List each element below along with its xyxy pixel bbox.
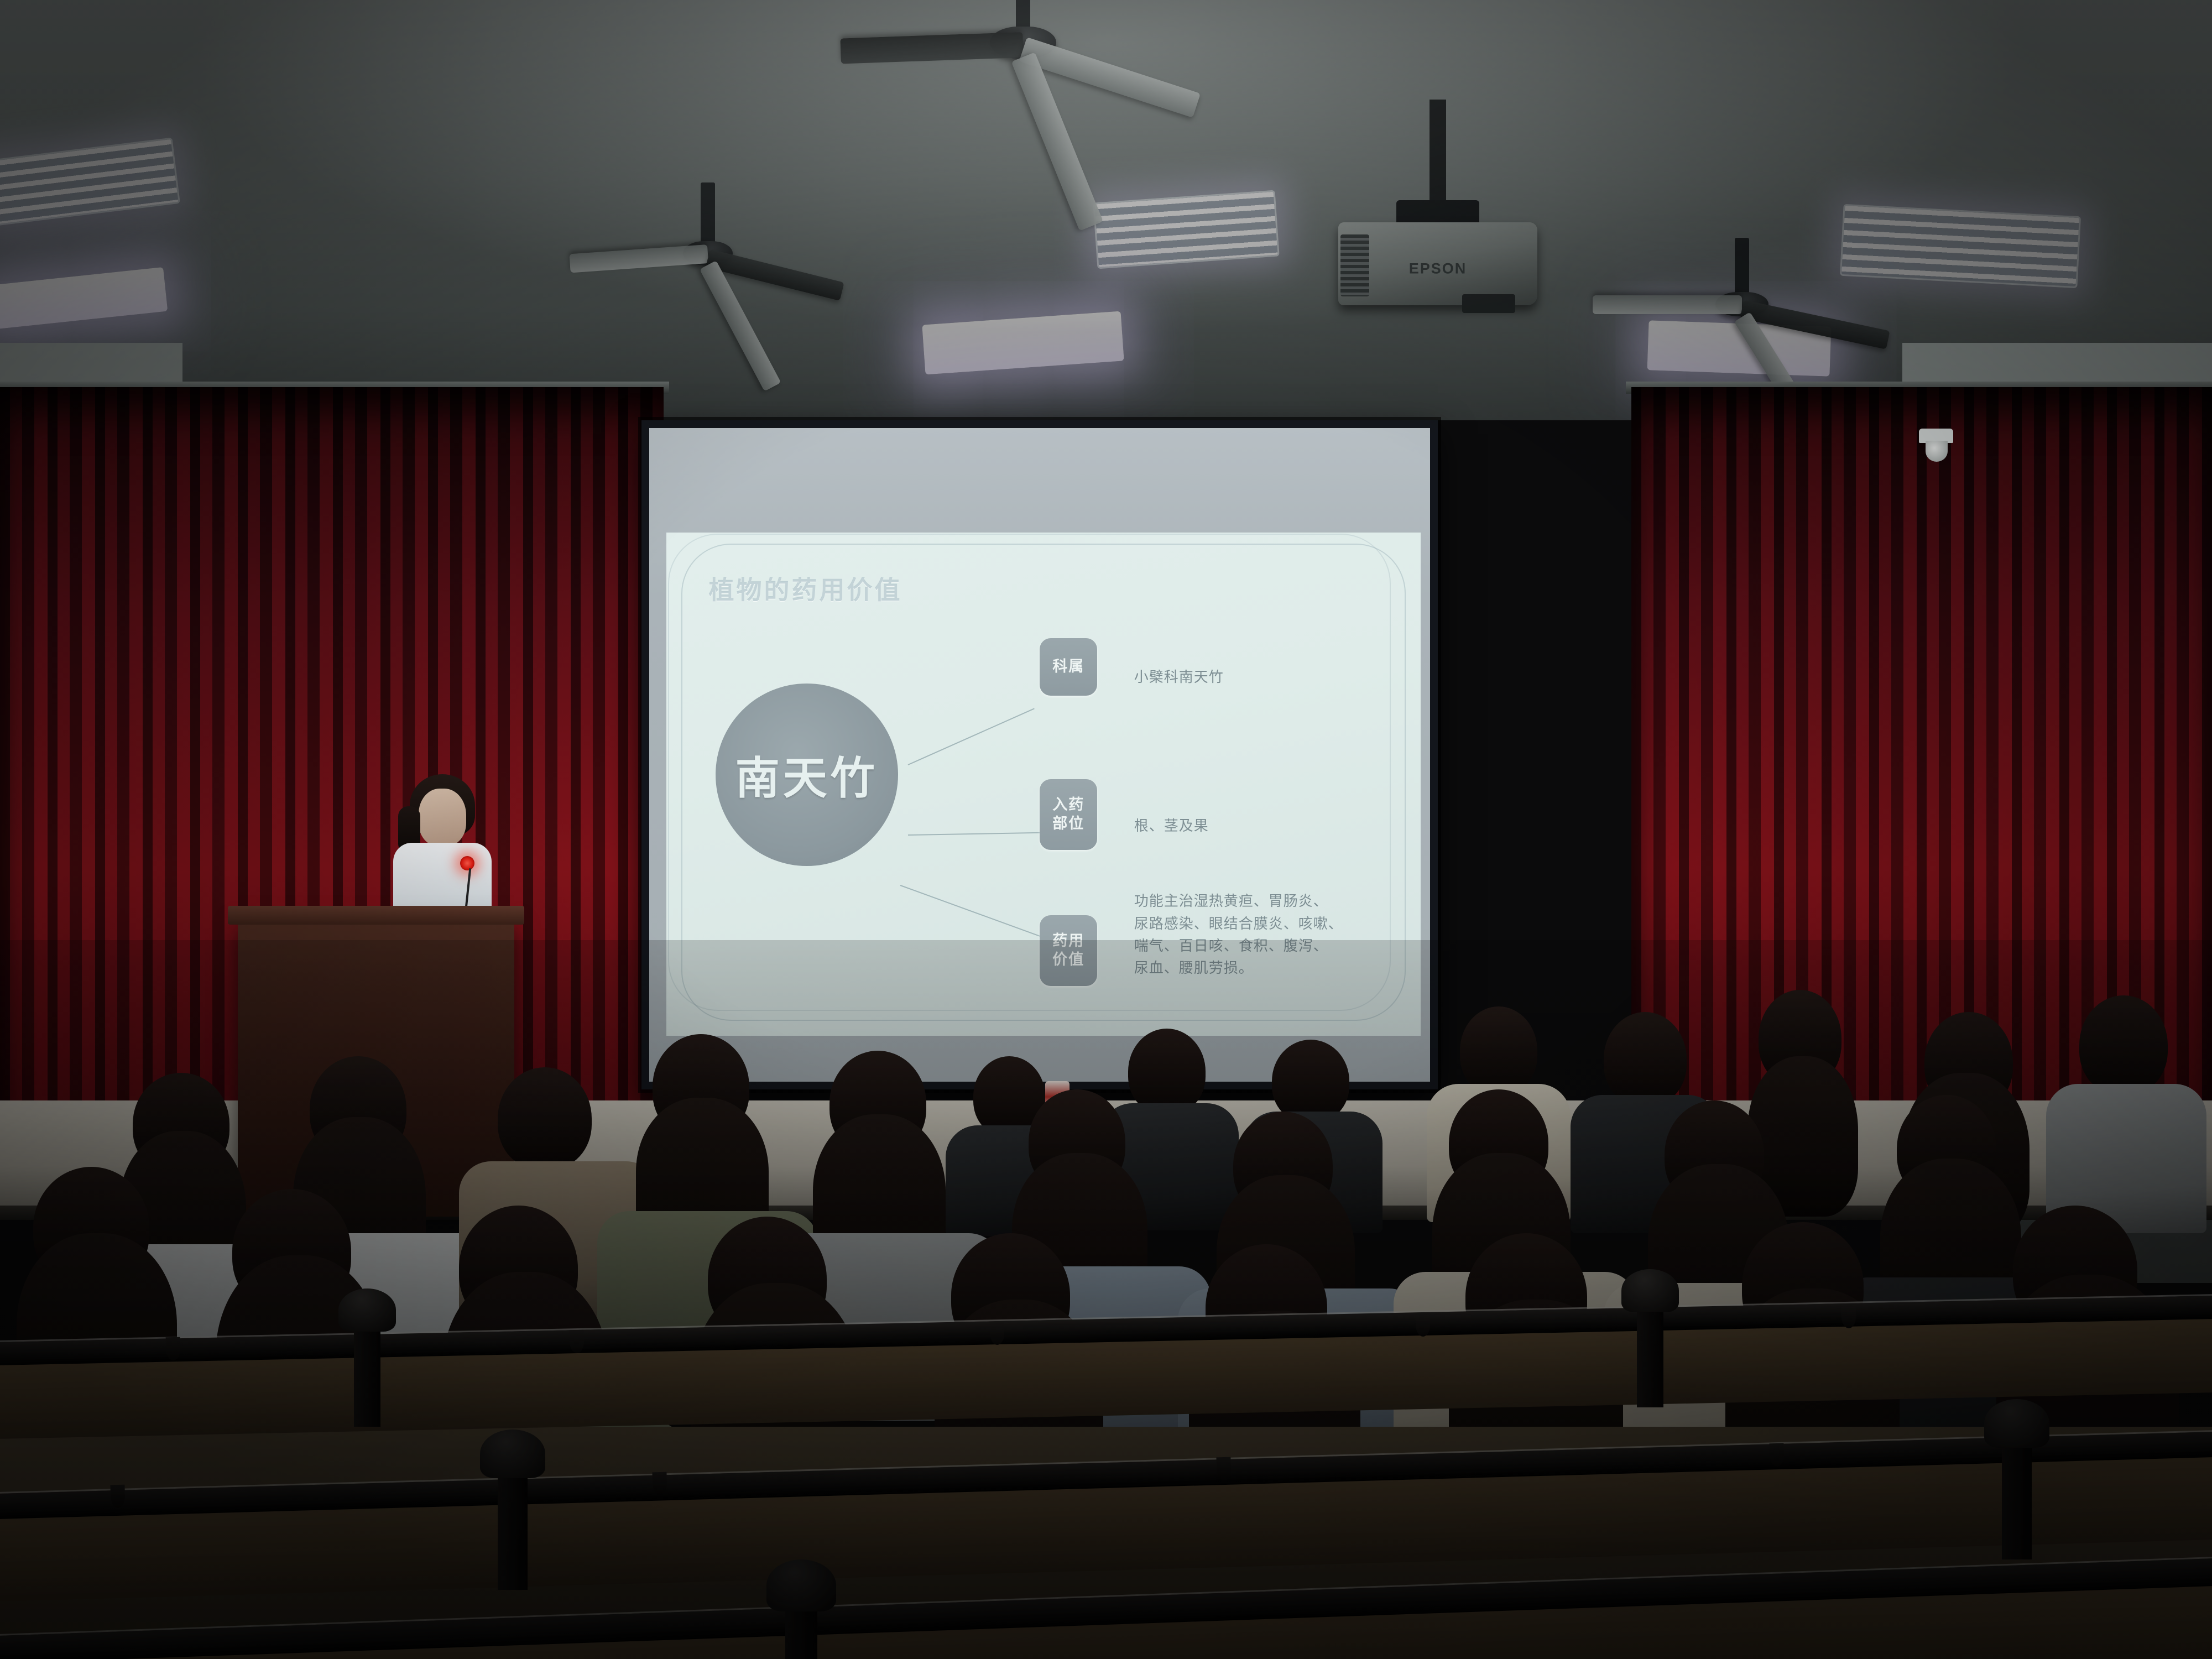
audience-head xyxy=(2079,995,2168,1095)
audience-head xyxy=(1128,1029,1206,1114)
ceiling: EPSON xyxy=(0,0,2212,420)
audience-head xyxy=(1272,1040,1349,1123)
bench-knob xyxy=(166,1337,181,1361)
lecture-hall-scene: EPSON 植物的药用价值 南天竹 xyxy=(0,0,2212,1659)
bench-armrest-cap xyxy=(766,1559,836,1611)
audience-head xyxy=(1604,1012,1687,1106)
bench-armrest-cap xyxy=(1984,1399,2049,1448)
security-camera xyxy=(1919,429,1958,467)
slide-canvas: 植物的药用价值 南天竹 科属 小檗科南天竹 xyxy=(666,533,1421,1036)
bench-knob xyxy=(1416,1313,1431,1337)
bench-knob xyxy=(990,1322,1005,1345)
slide-node-value: 药用 价值 xyxy=(1040,915,1097,986)
bench-divider xyxy=(1637,1302,1663,1407)
bench-armrest-cap xyxy=(1621,1269,1679,1312)
slide-title: 植物的药用价值 xyxy=(708,570,902,607)
audience-head xyxy=(1460,1006,1537,1095)
slide-node-part: 入药 部位 xyxy=(1040,779,1097,850)
slide-node-family-desc: 小檗科南天竹 xyxy=(1134,666,1224,688)
slide-node-label: 入药 xyxy=(1052,796,1084,815)
projection-screen: 植物的药用价值 南天竹 科属 小檗科南天竹 xyxy=(641,420,1438,1089)
slide-node-value-desc: 功能主治湿热黄疸、胃肠炎、 尿路感染、眼结合膜炎、咳嗽、 喘气、百日咳、食积、腹… xyxy=(1134,890,1343,979)
slide-center-bubble: 南天竹 xyxy=(716,684,898,866)
slide-node-part-desc: 根、茎及果 xyxy=(1134,815,1209,837)
slide-node-label: 药用 xyxy=(1052,932,1084,951)
audience-head xyxy=(498,1067,592,1170)
microphone-led xyxy=(460,856,474,870)
bench-armrest-cap xyxy=(480,1430,545,1478)
slide-node-family: 科属 xyxy=(1040,638,1097,696)
bench-divider xyxy=(2002,1438,2032,1559)
presenter-head xyxy=(419,789,466,846)
bench-armrest-cap xyxy=(338,1288,396,1332)
bench-divider xyxy=(498,1468,528,1590)
slide-center-label: 南天竹 xyxy=(735,743,878,807)
bench-divider xyxy=(354,1322,380,1427)
slide-node-label2: 部位 xyxy=(1052,815,1084,833)
slide-node-label: 科属 xyxy=(1052,658,1084,676)
bench-knob xyxy=(1841,1305,1856,1329)
podium-top xyxy=(228,906,524,925)
bench-knob xyxy=(570,1330,585,1354)
slide-node-label2: 价值 xyxy=(1052,951,1084,969)
